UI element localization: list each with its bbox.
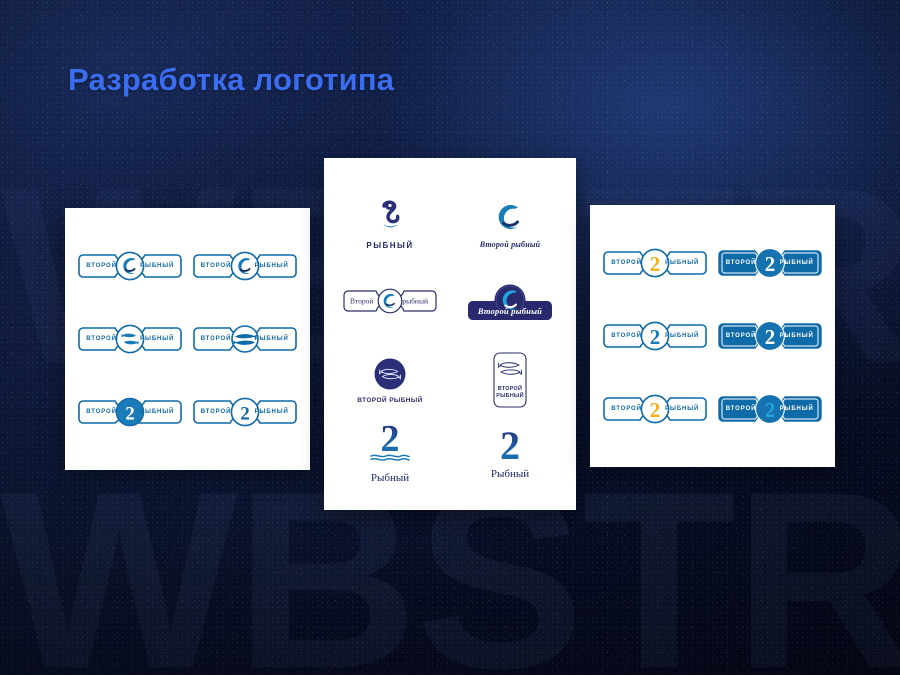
- fish-card-shape: [488, 351, 532, 409]
- badge-label-left: ВТОРОЙ: [86, 263, 117, 269]
- badge-label-right: РЫБНЫЙ: [780, 333, 814, 339]
- badge-r4[interactable]: 2 ВТОРОЙ РЫБНЫЙ: [717, 319, 823, 353]
- numeral-2-icon: 2: [240, 403, 250, 424]
- list-item[interactable]: Второй рыбный: [450, 262, 570, 340]
- svg-text:2: 2: [381, 419, 400, 460]
- badge-two-1[interactable]: 2 ВТОРОЙ РЫБНЫЙ: [77, 395, 183, 429]
- list-item[interactable]: ВТОРОЙ РЫБНЫЙ: [188, 303, 303, 376]
- numeral-2-icon: 2: [650, 398, 661, 422]
- list-item[interactable]: 2 Рыбный: [330, 419, 450, 484]
- badge-label-right: РЫБНЫЙ: [140, 263, 174, 269]
- list-item[interactable]: Второй рыбный: [330, 262, 450, 340]
- badge-label-left: ВТОРОЙ: [201, 409, 232, 415]
- dark-pill-shape: [464, 279, 556, 323]
- badge-label-right: РЫБНЫЙ: [255, 409, 289, 415]
- badge-fish-1[interactable]: ВТОРОЙ РЫБНЫЙ: [77, 322, 183, 356]
- badge-label-right: РЫБНЫЙ: [780, 406, 814, 412]
- badge-wave-2[interactable]: ВТОРОЙ РЫБНЫЙ: [192, 249, 298, 283]
- list-item[interactable]: 2 Рыбный: [450, 419, 570, 484]
- list-item[interactable]: 2 ВТОРОЙ РЫБНЫЙ: [713, 372, 828, 445]
- mark-light-pill[interactable]: Второй рыбный: [342, 286, 438, 316]
- mark-hook-two[interactable]: РЫБНЫЙ: [366, 197, 413, 250]
- numeral-2-icon: 2: [650, 325, 661, 349]
- badge-label-right: РЫБНЫЙ: [255, 336, 289, 342]
- badge-label-right: РЫБНЫЙ: [665, 333, 699, 339]
- mark-wave-c[interactable]: Второй рыбный: [480, 198, 541, 249]
- badge-r2[interactable]: 2 ВТОРОЙ РЫБНЫЙ: [717, 246, 823, 280]
- mark-label: Рыбный: [491, 468, 529, 480]
- list-item[interactable]: ВТОРОЙ РЫБНЫЙ: [330, 341, 450, 419]
- wave-c-icon: [491, 198, 529, 236]
- numeral-2-icon: 2: [765, 398, 776, 422]
- list-item[interactable]: 2 ВТОРОЙ РЫБНЫЙ: [713, 300, 828, 373]
- badge-r5[interactable]: 2 ВТОРОЙ РЫБНЫЙ: [602, 392, 708, 426]
- badge-label-right: РЫБНЫЙ: [780, 260, 814, 266]
- mark-label: РЫБНЫЙ: [366, 241, 413, 250]
- badge-label-left: ВТОРОЙ: [611, 333, 642, 339]
- mark-label: Второй рыбный: [480, 240, 541, 249]
- mark-dark-pill[interactable]: Второй рыбный: [464, 279, 556, 323]
- svg-text:2: 2: [500, 423, 520, 467]
- badge-r1[interactable]: 2 ВТОРОЙ РЫБНЫЙ: [602, 246, 708, 280]
- badge-label-left: ВТОРОЙ: [86, 409, 117, 415]
- badge-label-right: РЫБНЫЙ: [140, 409, 174, 415]
- panel-right-finals: 2 ВТОРОЙ РЫБНЫЙ 2 ВТОРОЙ РЫБНЫЙ: [590, 205, 835, 467]
- list-item[interactable]: 2 ВТОРОЙ РЫБНЫЙ: [73, 375, 188, 448]
- badge-two-2[interactable]: 2 ВТОРОЙ РЫБНЫЙ: [192, 395, 298, 429]
- list-item[interactable]: РЫБНЫЙ: [330, 184, 450, 262]
- mark-label: Рыбный: [371, 472, 409, 484]
- page-title: Разработка логотипа: [68, 62, 394, 98]
- badge-label-left: ВТОРОЙ: [611, 260, 642, 266]
- badge-label-left: ВТОРОЙ: [726, 260, 757, 266]
- badge-label-right: РЫБНЫЙ: [665, 260, 699, 266]
- fish-circle-icon: [372, 356, 408, 392]
- numeral-2-icon: 2: [126, 403, 136, 424]
- numeral-2-waves-icon: 2: [363, 419, 417, 471]
- badge-label-left: ВТОРОЙ: [201, 263, 232, 269]
- pill-label-left: Второй: [350, 297, 373, 306]
- mark-fish-card[interactable]: ВТОРОЙ РЫБНЫЙ: [488, 351, 532, 409]
- list-item[interactable]: 2 ВТОРОЙ РЫБНЫЙ: [598, 300, 713, 373]
- list-item[interactable]: 2 ВТОРОЙ РЫБНЫЙ: [598, 372, 713, 445]
- badge-fish-2[interactable]: ВТОРОЙ РЫБНЫЙ: [192, 322, 298, 356]
- badge-label-right: РЫБНЫЙ: [665, 406, 699, 412]
- list-item[interactable]: ВТОРОЙ РЫБНЫЙ: [450, 341, 570, 419]
- list-item[interactable]: 2 ВТОРОЙ РЫБНЫЙ: [188, 375, 303, 448]
- badge-label-left: ВТОРОЙ: [611, 406, 642, 412]
- list-item[interactable]: 2 ВТОРОЙ РЫБНЫЙ: [713, 227, 828, 300]
- badge-label-left: ВТОРОЙ: [201, 336, 232, 342]
- mark-fish-circle[interactable]: ВТОРОЙ РЫБНЫЙ: [357, 356, 422, 404]
- badge-r3[interactable]: 2 ВТОРОЙ РЫБНЫЙ: [602, 319, 708, 353]
- badge-label-right: РЫБНЫЙ: [140, 336, 174, 342]
- numeral-2-icon: 2: [650, 252, 661, 276]
- numeral-2-icon: 2: [488, 423, 532, 467]
- pill-label-right: рыбный: [402, 297, 428, 306]
- pill-label: Второй рыбный: [464, 306, 556, 316]
- mark-label: ВТОРОЙ РЫБНЫЙ: [357, 397, 422, 404]
- badge-label-right: РЫБНЫЙ: [255, 263, 289, 269]
- badge-label-left: ВТОРОЙ: [726, 406, 757, 412]
- slide-canvas: WBSTR WBSTR Разработка логотипа ВТОРОЙ: [0, 0, 900, 675]
- numeral-2-icon: 2: [765, 325, 776, 349]
- panel-center-marks: РЫБНЫЙ Второй рыбный: [324, 158, 576, 510]
- list-item[interactable]: 2 ВТОРОЙ РЫБНЫЙ: [598, 227, 713, 300]
- list-item[interactable]: ВТОРОЙ РЫБНЫЙ: [188, 230, 303, 303]
- badge-wave-1[interactable]: ВТОРОЙ РЫБНЫЙ: [77, 249, 183, 283]
- list-item[interactable]: ВТОРОЙ РЫБНЫЙ: [73, 230, 188, 303]
- list-item[interactable]: Второй рыбный: [450, 184, 570, 262]
- hook-numeral-2-icon: [373, 197, 407, 237]
- panel-left-concepts: ВТОРОЙ РЫБНЫЙ ВТОРОЙ РЫБНЫЙ: [65, 208, 310, 470]
- fish-card-label: ВТОРОЙ РЫБНЫЙ: [488, 386, 532, 400]
- numeral-2-icon: 2: [765, 252, 776, 276]
- badge-label-left: ВТОРОЙ: [86, 336, 117, 342]
- fish-card-line-2: РЫБНЫЙ: [488, 393, 532, 400]
- mark-two-plain[interactable]: 2 Рыбный: [488, 423, 532, 480]
- list-item[interactable]: ВТОРОЙ РЫБНЫЙ: [73, 303, 188, 376]
- badge-label-left: ВТОРОЙ: [726, 333, 757, 339]
- mark-two-waves[interactable]: 2 Рыбный: [363, 419, 417, 484]
- badge-r6[interactable]: 2 ВТОРОЙ РЫБНЫЙ: [717, 392, 823, 426]
